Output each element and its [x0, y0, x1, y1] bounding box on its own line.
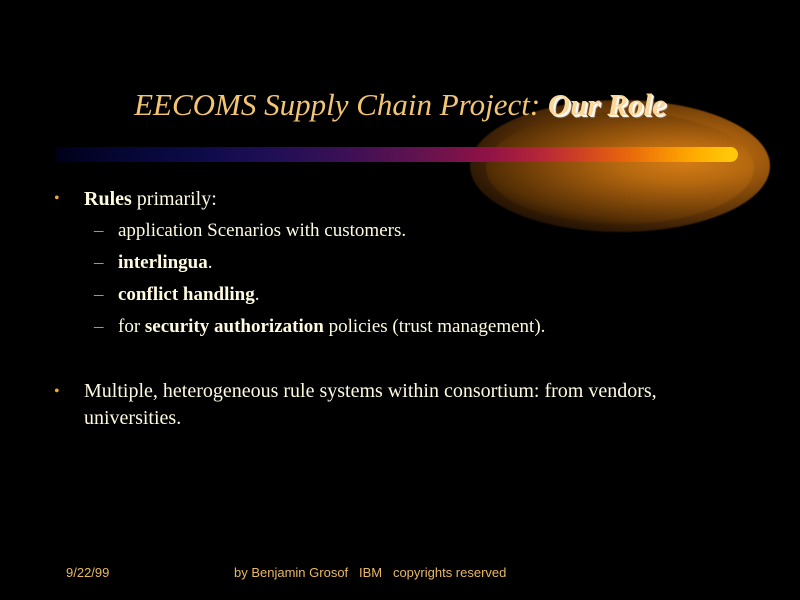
bullet-text: Multiple, heterogeneous rule systems wit…	[84, 380, 657, 430]
gradient-accent-bar	[56, 147, 738, 162]
presentation-slide: EECOMS Supply Chain Project: Our Role • …	[0, 0, 800, 600]
sub-bullet-run-bold: security authorization	[145, 316, 324, 337]
slide-title-main: EECOMS Supply Chain Project:	[134, 87, 540, 122]
sub-bullet-run-normal: .	[255, 284, 260, 305]
slide-title-spacer	[540, 87, 548, 122]
sub-bullet-run-normal: .	[208, 252, 213, 273]
sub-bullet-text: interlingua.	[118, 252, 212, 273]
sub-bullet-marker-dash: –	[94, 218, 104, 244]
bullet-marker-dot: •	[54, 186, 60, 212]
bullet-item: • Rules primarily:	[48, 186, 748, 212]
footer-credit: by Benjamin Grosof IBM copyrights reserv…	[234, 565, 506, 580]
sub-bullet-run-normal: for	[118, 316, 145, 337]
sub-bullet-item: – conflict handling.	[48, 282, 748, 308]
footer-date: 9/22/99	[66, 565, 109, 580]
sub-bullet-marker-dash: –	[94, 250, 104, 276]
bullet-text: Rules primarily:	[84, 188, 217, 210]
bullet-run-bold: Rules	[84, 188, 132, 210]
slide-title: EECOMS Supply Chain Project: Our Role	[0, 87, 800, 124]
bullet-marker-dot: •	[54, 378, 60, 405]
sub-bullet-run-normal: application Scenarios with customers.	[118, 220, 406, 241]
bullet-item: • Multiple, heterogeneous rule systems w…	[48, 378, 704, 433]
sub-bullet-item: – for security authorization policies (t…	[48, 314, 748, 340]
sub-bullet-marker-dash: –	[94, 314, 104, 340]
sub-bullet-text: for security authorization policies (tru…	[118, 316, 545, 337]
slide-body: • Rules primarily: – application Scenari…	[48, 186, 748, 433]
bullet-run-normal: primarily:	[132, 188, 217, 210]
slide-title-accent: Our Role	[548, 87, 666, 122]
body-spacer	[48, 346, 748, 378]
sub-bullet-item: – application Scenarios with customers.	[48, 218, 748, 244]
sub-bullet-marker-dash: –	[94, 282, 104, 308]
sub-bullet-run-bold: conflict handling	[118, 284, 255, 305]
slide-footer: 9/22/99 by Benjamin Grosof IBM copyright…	[0, 565, 800, 585]
sub-bullet-text: conflict handling.	[118, 284, 259, 305]
sub-bullet-run-bold: interlingua	[118, 252, 208, 273]
sub-bullet-item: – interlingua.	[48, 250, 748, 276]
sub-bullet-list: – application Scenarios with customers. …	[48, 218, 748, 339]
sub-bullet-run-normal: policies (trust management).	[324, 316, 546, 337]
sub-bullet-text: application Scenarios with customers.	[118, 220, 406, 241]
